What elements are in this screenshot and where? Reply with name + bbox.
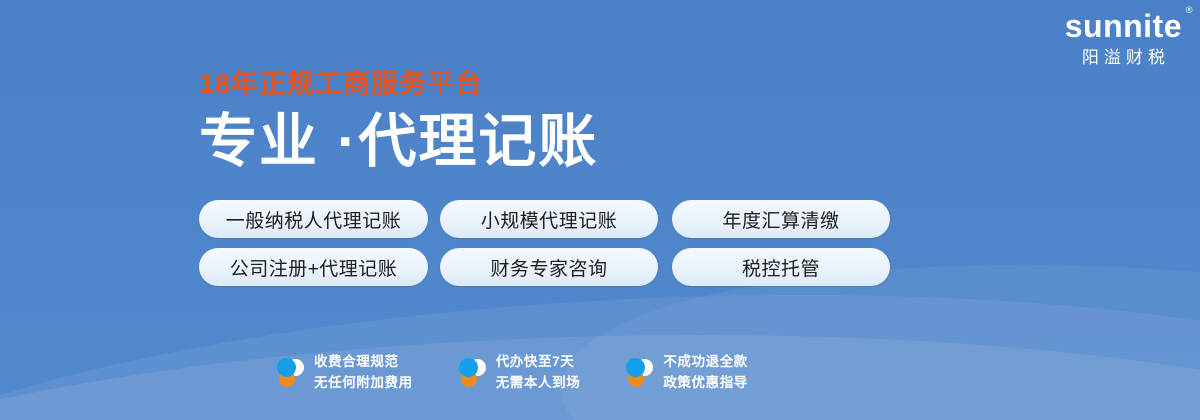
feature-text-guarantee: 不成功退全款 政策优惠指导 [663,352,748,394]
brand-logo[interactable]: sunnite® 阳溢财税 [1065,10,1182,66]
feature-item-speed: 代办快至7天 无需本人到场 [457,352,581,394]
feature-strip: 收费合理规范 无任何附加费用 代办快至7天 无需本人到场 不成功退全款 [275,352,748,394]
circles-badge-icon [624,356,654,389]
feature-line-2: 政策优惠指导 [663,373,748,394]
circles-badge-icon [457,356,487,389]
service-pill-row-1: 一般纳税人代理记账 小规模代理记账 年度汇算清缴 [199,200,890,238]
service-pill-grid: 一般纳税人代理记账 小规模代理记账 年度汇算清缴 公司注册+代理记账 财务专家咨… [199,200,890,296]
registered-trademark-icon: ® [1186,6,1193,15]
feature-text-pricing: 收费合理规范 无任何附加费用 [314,352,413,394]
feature-line-2: 无需本人到场 [496,373,581,394]
service-pill-annual-settlement[interactable]: 年度汇算清缴 [672,200,890,238]
service-pill-tax-control-custody[interactable]: 税控托管 [672,248,890,286]
feature-line-1: 收费合理规范 [314,352,413,373]
logo-wordmark: sunnite® [1065,10,1182,42]
page-title: 专业 ·代理记账 [199,110,598,174]
circles-badge-icon [275,356,305,389]
service-pill-small-scale[interactable]: 小规模代理记账 [440,200,658,238]
service-pill-general-taxpayer[interactable]: 一般纳税人代理记账 [199,200,428,238]
feature-line-1: 代办快至7天 [496,352,581,373]
hero-text-block: 18年正规工商服务平台 专业 ·代理记账 [199,70,598,174]
hero-tagline: 18年正规工商服务平台 [199,70,598,98]
service-pill-expert-consulting[interactable]: 财务专家咨询 [440,248,658,286]
logo-chinese-name: 阳溢财税 [1065,49,1182,66]
feature-text-speed: 代办快至7天 无需本人到场 [496,352,581,394]
promo-banner: sunnite® 阳溢财税 18年正规工商服务平台 专业 ·代理记账 一般纳税人… [0,0,1200,420]
service-pill-row-2: 公司注册+代理记账 财务专家咨询 税控托管 [199,248,890,286]
feature-line-2: 无任何附加费用 [314,373,413,394]
feature-item-guarantee: 不成功退全款 政策优惠指导 [624,352,748,394]
feature-line-1: 不成功退全款 [663,352,748,373]
service-pill-company-registration[interactable]: 公司注册+代理记账 [199,248,428,286]
feature-item-pricing: 收费合理规范 无任何附加费用 [275,352,413,394]
